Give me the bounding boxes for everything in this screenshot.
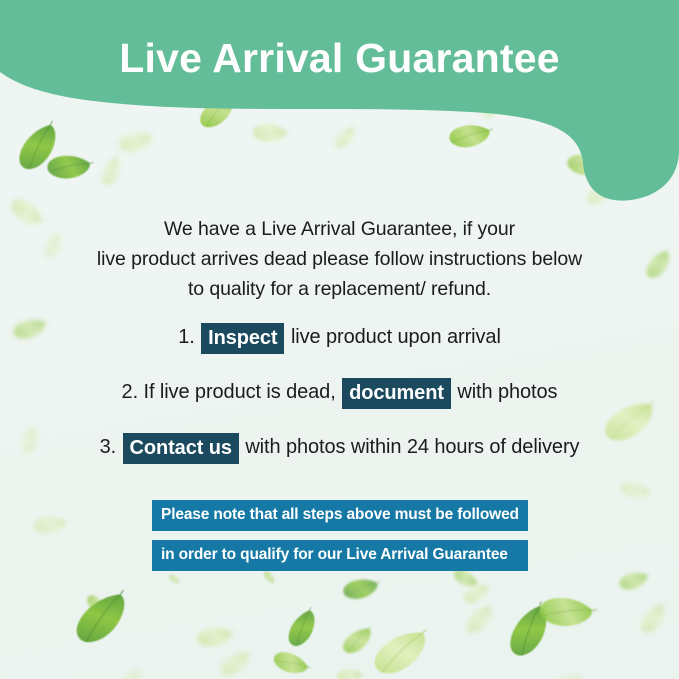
step-2-number: 2.	[122, 381, 138, 403]
step-1-text-post: live product upon arrival	[291, 326, 501, 348]
leaf-icon	[269, 594, 335, 664]
leaf-icon	[337, 572, 382, 607]
intro-paragraph: We have a Live Arrival Guarantee, if you…	[0, 214, 679, 304]
leaf-icon	[331, 656, 368, 679]
step-item-2: 2. If live product is dead, document wit…	[0, 377, 679, 408]
step-item-1: 1. Inspect live product upon arrival	[0, 322, 679, 353]
leaf-icon	[116, 661, 147, 679]
intro-line-1: We have a Live Arrival Guarantee, if you…	[0, 214, 679, 244]
leaf-icon	[29, 507, 70, 543]
leaf-icon	[77, 589, 116, 621]
leaf-icon	[494, 599, 564, 665]
leaf-icon	[532, 581, 599, 643]
note-bar-line-1: Please note that all steps above must be…	[152, 500, 528, 531]
leaf-icon	[552, 663, 587, 679]
leaf-icon	[64, 588, 137, 651]
leaf-icon	[261, 634, 319, 679]
leaf-icon	[336, 617, 378, 665]
leaf-icon	[615, 558, 652, 605]
leaf-icon	[189, 606, 240, 668]
page-title: Live Arrival Guarantee	[0, 32, 679, 84]
leaf-icon	[616, 471, 654, 509]
leaf-icon	[365, 610, 435, 679]
step-3-text-post: with photos within 24 hours of delivery	[245, 436, 579, 458]
poster-root: Live Arrival Guarantee We have a Live Ar…	[0, 0, 679, 679]
step-2-text-post: with photos	[457, 381, 557, 403]
intro-line-2: live product arrives dead please follow …	[0, 244, 679, 274]
note-box: Please note that all steps above must be…	[152, 500, 528, 571]
step-3-highlight-contact-us[interactable]: Contact us	[123, 433, 239, 464]
step-2-highlight-document[interactable]: document	[342, 378, 451, 409]
step-3-number: 3.	[100, 436, 116, 458]
leaf-icon	[628, 591, 679, 647]
intro-line-3: to quality for a replacement/ refund.	[0, 274, 679, 304]
note-bar-line-2: in order to qualify for our Live Arrival…	[152, 540, 528, 571]
leaf-icon	[461, 583, 490, 605]
step-item-3: 3. Contact us with photos within 24 hour…	[0, 432, 679, 463]
step-2-text-pre: If live product is dead,	[144, 381, 336, 403]
leaf-icon	[456, 594, 503, 647]
step-1-number: 1.	[178, 326, 194, 348]
leaf-icon	[215, 638, 255, 679]
leaf-icon	[163, 570, 184, 587]
step-1-highlight-inspect[interactable]: Inspect	[201, 323, 284, 354]
